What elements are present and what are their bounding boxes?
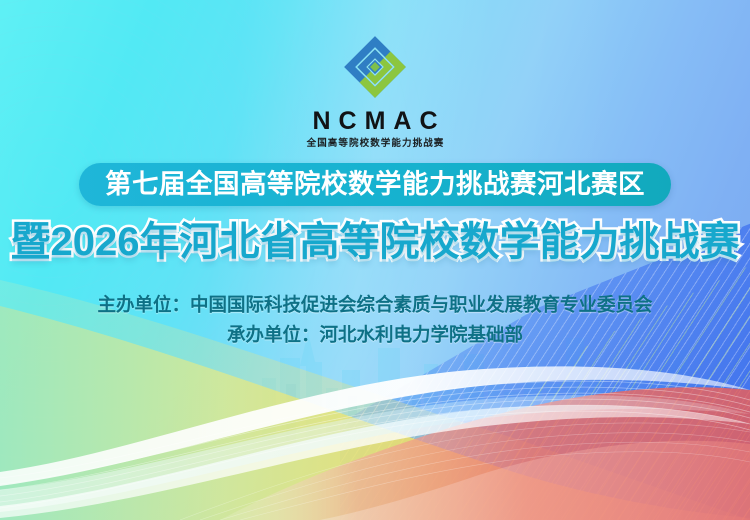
organizer-coorganizer: 承办单位：河北水利电力学院基础部	[0, 320, 750, 350]
event-headline: 暨2026年河北省高等院校数学能力挑战赛	[0, 218, 750, 267]
ncmac-wordmark: NCMAC	[304, 109, 445, 134]
ncmac-diamond-logo-icon	[336, 28, 414, 106]
organizer-host: 主办单位：中国国际科技促进会综合素质与职业发展教育专业委员会	[0, 290, 750, 320]
logo-subtitle: 全国高等院校数学能力挑战赛	[306, 139, 445, 149]
organizer-list: 主办单位：中国国际科技促进会综合素质与职业发展教育专业委员会 承办单位：河北水利…	[0, 290, 750, 350]
event-banner: NCMAC 全国高等院校数学能力挑战赛 第七届全国高等院校数学能力挑战赛河北赛区…	[0, 0, 750, 520]
event-title-pill: 第七届全国高等院校数学能力挑战赛河北赛区	[79, 163, 671, 206]
logo-block: NCMAC 全国高等院校数学能力挑战赛	[0, 28, 750, 149]
event-title-text: 第七届全国高等院校数学能力挑战赛河北赛区	[105, 171, 645, 198]
lime-hatch-lines	[460, 240, 750, 520]
